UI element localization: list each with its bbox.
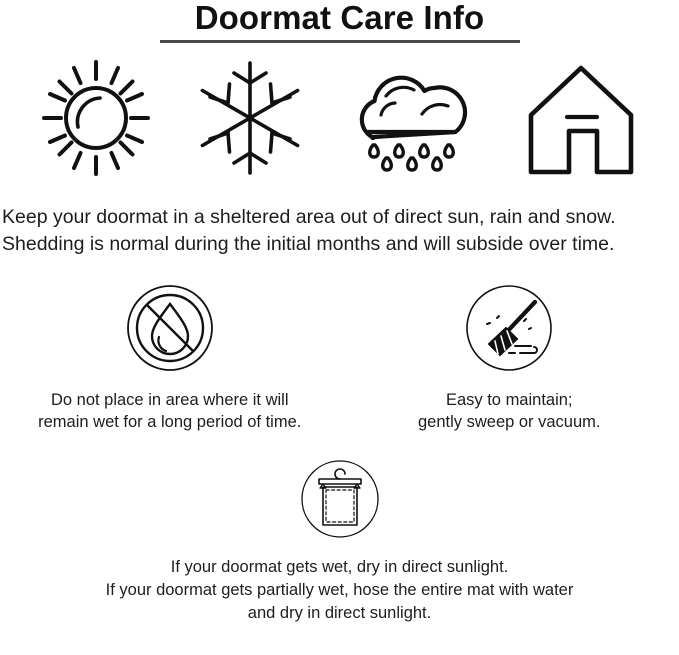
- caption-line-1: If your doormat gets wet, dry in direct …: [106, 556, 574, 579]
- hang-dry-icon: [300, 459, 380, 544]
- snowflake-icon: [200, 59, 300, 182]
- drying-instruction-block: If your doormat gets wet, dry in direct …: [0, 433, 679, 625]
- intro-paragraph: Keep your doormat in a sheltered area ou…: [0, 182, 679, 258]
- caption-line-2: gently sweep or vacuum.: [418, 411, 601, 433]
- care-item-no-water-caption: Do not place in area where it will remai…: [38, 389, 301, 433]
- header: Doormat Care Info: [0, 0, 679, 43]
- intro-line-1: Keep your doormat in a sheltered area ou…: [2, 204, 677, 231]
- caption-line-1: Do not place in area where it will: [38, 389, 301, 411]
- sun-icon: [42, 59, 150, 182]
- broom-sweep-icon: [465, 284, 553, 377]
- care-item-sweep: Easy to maintain; gently sweep or vacuum…: [340, 284, 679, 433]
- care-item-sweep-caption: Easy to maintain; gently sweep or vacuum…: [418, 389, 601, 433]
- rain-cloud-icon: [350, 59, 475, 182]
- weather-icon-row: [0, 43, 679, 182]
- drying-instruction-caption: If your doormat gets wet, dry in direct …: [106, 556, 574, 625]
- caption-line-2: remain wet for a long period of time.: [38, 411, 301, 433]
- caption-line-3: and dry in direct sunlight.: [106, 602, 574, 625]
- page-title: Doormat Care Info: [0, 1, 679, 35]
- intro-line-2: Shedding is normal during the initial mo…: [2, 231, 677, 258]
- care-badge-row: Do not place in area where it will remai…: [0, 258, 679, 433]
- care-item-no-water: Do not place in area where it will remai…: [0, 284, 340, 433]
- caption-line-2: If your doormat gets partially wet, hose…: [106, 579, 574, 602]
- caption-line-1: Easy to maintain;: [418, 389, 601, 411]
- no-water-icon: [126, 284, 214, 377]
- house-icon: [525, 59, 637, 182]
